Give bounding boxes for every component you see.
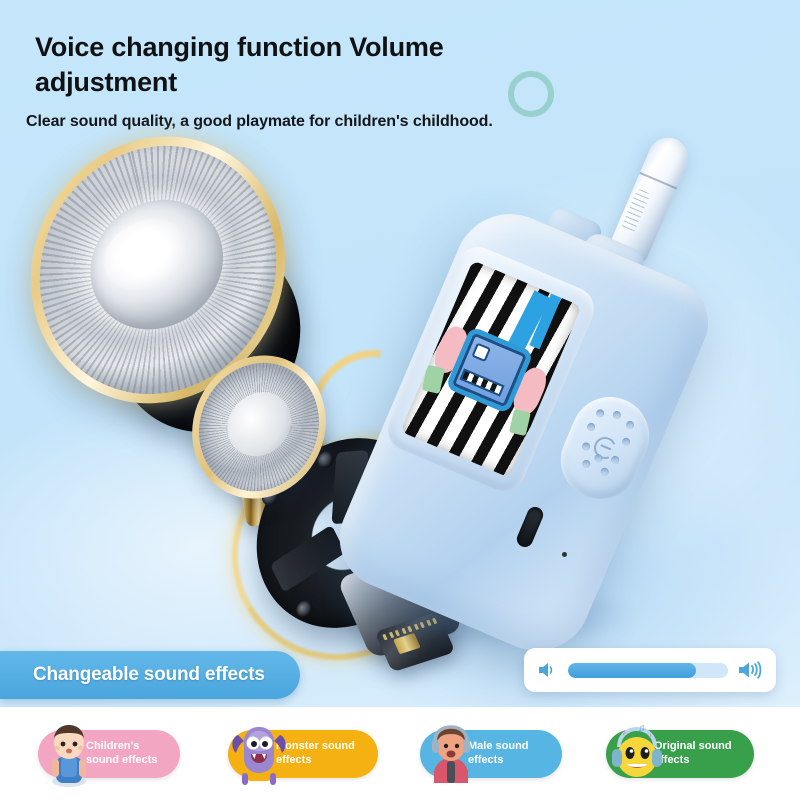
speaker-grille-dot xyxy=(612,410,622,420)
smiley-headphones-avatar-icon: ♪ ♫ ♪ xyxy=(606,721,668,787)
sound-effect-item-monster[interactable]: Monster sound effects xyxy=(228,721,378,787)
boy-avatar-icon xyxy=(38,721,100,787)
page-title: Voice changing function Volume adjustmen… xyxy=(35,30,505,99)
circle-outline-decor-icon xyxy=(508,71,554,117)
speaker-grille-dot xyxy=(621,437,631,447)
man-headphones-avatar-icon xyxy=(420,721,482,787)
svg-text:♪: ♪ xyxy=(648,731,652,740)
sound-effects-row: Children's sound effects xyxy=(0,707,800,800)
volume-slider-fill xyxy=(568,663,696,678)
speaker-grille-dot xyxy=(581,459,591,469)
product-marketing-banner: Voice changing function Volume adjustmen… xyxy=(0,0,800,800)
screen-robot-mouth xyxy=(460,368,505,396)
speaker-grille-dot xyxy=(599,467,609,477)
antenna-grip xyxy=(620,188,650,234)
volume-slider-track[interactable] xyxy=(568,663,728,678)
screen-cuff-right xyxy=(509,409,531,436)
sound-effect-item-male[interactable]: Male sound effects xyxy=(420,721,562,787)
sound-effect-item-original[interactable]: Original sound effects ♪ ♫ ♪ xyxy=(606,721,754,787)
monster-avatar-icon xyxy=(228,721,290,787)
kids-walkie-talkie xyxy=(330,128,800,688)
changeable-sound-effects-banner: Changeable sound effects xyxy=(0,651,300,699)
frame-vent-hole xyxy=(294,598,314,620)
speaker-grille-dot xyxy=(581,441,591,451)
screen-robot-eye xyxy=(471,343,491,363)
speaker-grille-dot xyxy=(625,420,635,430)
volume-slider-card[interactable] xyxy=(524,648,776,692)
sound-effects-strip: Children's sound effects xyxy=(0,707,800,800)
speaker-grille-dot xyxy=(595,408,605,418)
antenna-band xyxy=(639,172,677,189)
banner-label: Changeable sound effects xyxy=(0,664,265,686)
sound-effect-item-children[interactable]: Children's sound effects xyxy=(38,721,180,787)
speaker-grille-dot xyxy=(610,455,620,465)
microphone-pinhole-icon xyxy=(562,552,567,557)
speaker-low-icon xyxy=(537,660,559,680)
svg-text:♫: ♫ xyxy=(638,723,646,734)
speaker-grille-dot xyxy=(586,422,596,432)
speaker-high-icon xyxy=(737,659,763,681)
screen-cuff-left xyxy=(422,364,445,393)
svg-text:♪: ♪ xyxy=(622,727,627,737)
